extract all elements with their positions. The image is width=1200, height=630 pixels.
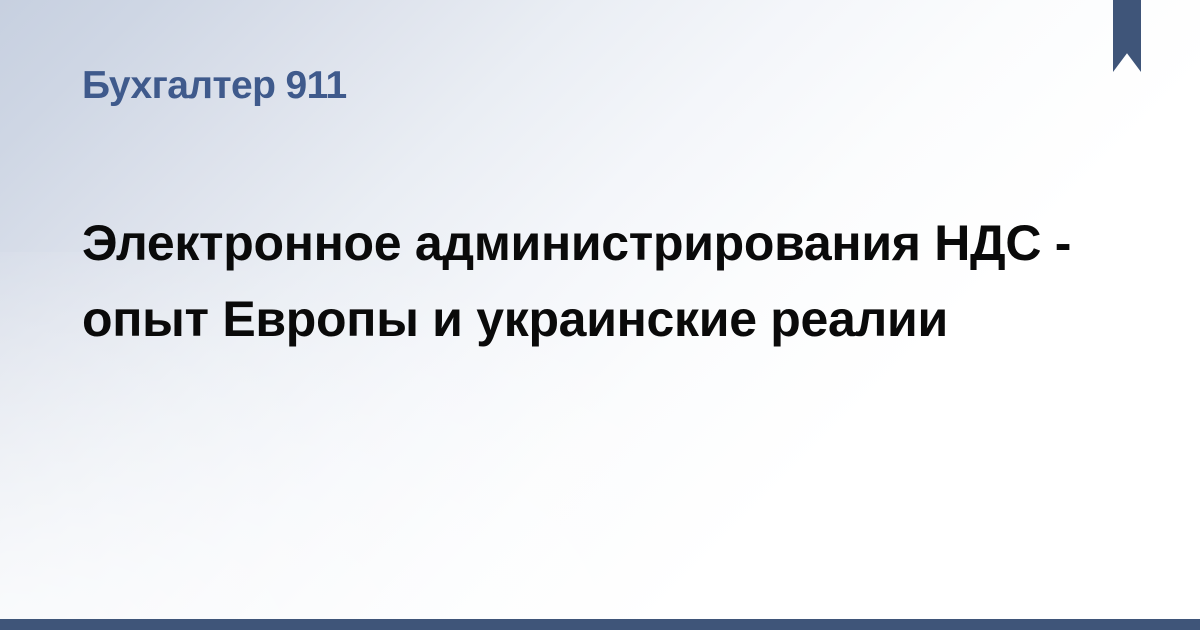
card-content: Бухгалтер 911 Электронное администрирова… bbox=[0, 0, 1200, 630]
article-headline: Электронное администрирования НДС - опыт… bbox=[82, 205, 1092, 357]
site-logo-text[interactable]: Бухгалтер 911 bbox=[82, 66, 347, 105]
bottom-accent-bar bbox=[0, 619, 1200, 630]
social-share-card: Бухгалтер 911 Электронное администрирова… bbox=[0, 0, 1200, 630]
